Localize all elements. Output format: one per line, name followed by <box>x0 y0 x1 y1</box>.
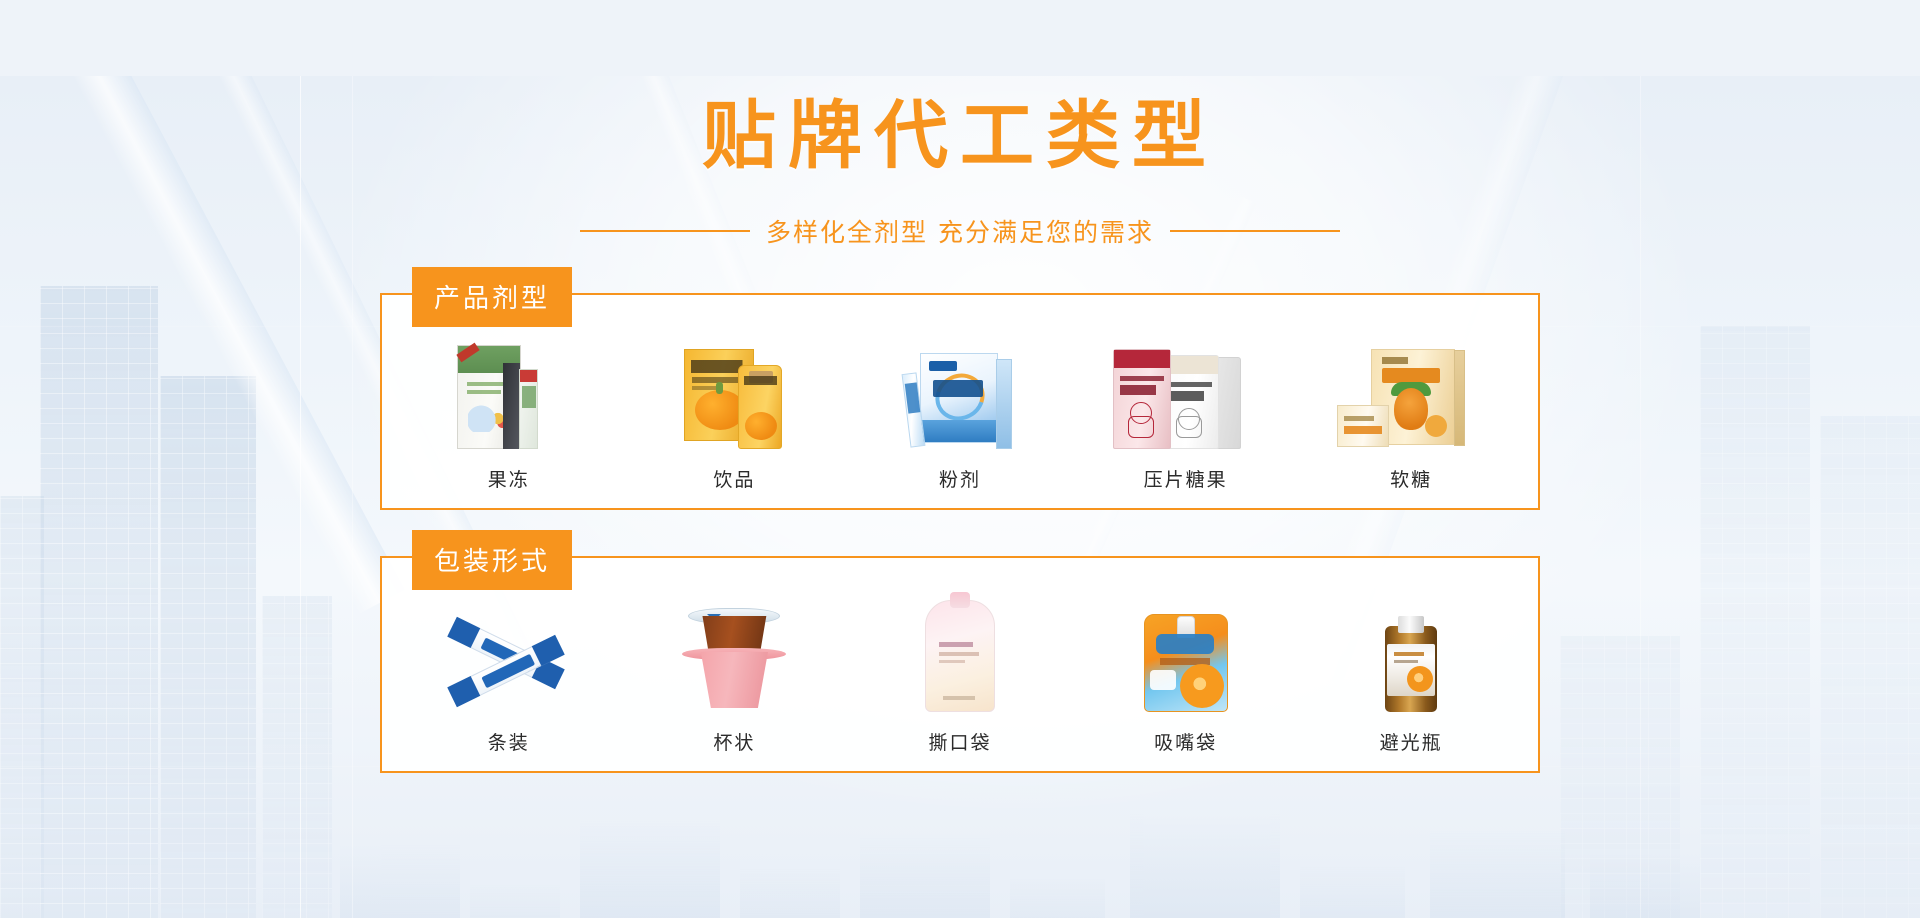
probiotics-stick-packs-icon <box>434 612 584 712</box>
section-badge-product-dosage-forms: 产品剂型 <box>412 267 572 327</box>
product-image-gummy <box>1313 331 1509 449</box>
packaging-card-spout-pouch[interactable]: 吸嘴袋 <box>1088 594 1284 755</box>
packaging-label-tear-pouch: 撕口袋 <box>862 728 1058 755</box>
probiotics-powder-box-icon <box>920 353 1014 449</box>
packaging-image-spout-pouch <box>1088 594 1284 712</box>
product-label-gummy: 软糖 <box>1313 465 1509 492</box>
page-title: 贴牌代工类型 <box>0 76 1920 183</box>
soso-gummy-box-icon <box>1371 349 1475 449</box>
product-label-powder: 粉剂 <box>862 465 1058 492</box>
section-product-dosage-forms: 产品剂型 果冻 饮品 <box>380 293 1540 510</box>
packaging-label-spout-pouch: 吸嘴袋 <box>1088 728 1284 755</box>
packaging-card-light-proof-bottle[interactable]: 避光瓶 <box>1313 594 1509 755</box>
pumpkin-enzyme-drink-box-icon <box>684 349 784 449</box>
packaging-label-stick-pack: 条装 <box>411 728 607 755</box>
product-image-jelly <box>411 331 607 449</box>
product-card-jelly[interactable]: 果冻 <box>411 331 607 492</box>
section-badge-packaging-formats: 包装形式 <box>412 530 572 590</box>
divider-line-right <box>1170 230 1340 232</box>
page-subtitle: 多样化全剂型 充分满足您的需求 <box>766 213 1154 249</box>
subtitle-row: 多样化全剂型 充分满足您的需求 <box>0 213 1920 249</box>
product-image-beverage <box>636 331 832 449</box>
packaging-card-cup[interactable]: 杯状 <box>636 594 832 755</box>
product-card-tablet-candy[interactable]: 压片糖果 <box>1088 331 1284 492</box>
product-image-powder <box>862 331 1058 449</box>
product-card-gummy[interactable]: 软糖 <box>1313 331 1509 492</box>
packaging-card-stick-pack[interactable]: 条装 <box>411 594 607 755</box>
packaging-label-cup: 杯状 <box>636 728 832 755</box>
packaging-image-stick-pack <box>411 594 607 712</box>
product-card-beverage[interactable]: 饮品 <box>636 331 832 492</box>
product-label-beverage: 饮品 <box>636 465 832 492</box>
packaging-image-tear-pouch <box>862 594 1058 712</box>
product-card-powder[interactable]: 粉剂 <box>862 331 1058 492</box>
amber-light-proof-bottle-icon <box>1385 600 1437 712</box>
product-label-jelly: 果冻 <box>411 465 607 492</box>
section-packaging-formats: 包装形式 条装 <box>380 556 1540 773</box>
packaging-label-light-proof-bottle: 避光瓶 <box>1313 728 1509 755</box>
packaging-image-light-proof-bottle <box>1313 594 1509 712</box>
packaging-image-cup <box>636 594 832 712</box>
product-label-tablet-candy: 压片糖果 <box>1088 465 1284 492</box>
jelly-box-with-stick-icon <box>457 345 561 449</box>
page-root: 贴牌代工类型 多样化全剂型 充分满足您的需求 产品剂型 果冻 <box>0 76 1920 918</box>
stacked-jelly-cups-icon <box>669 600 799 712</box>
divider-line-left <box>580 230 750 232</box>
packaging-card-tear-pouch[interactable]: 撕口袋 <box>862 594 1058 755</box>
spout-pouch-orange-icon <box>1144 600 1228 712</box>
tear-open-pouch-icon <box>925 600 995 712</box>
carbmaster-milk-bites-bags-icon <box>1111 343 1261 449</box>
product-image-tablet-candy <box>1088 331 1284 449</box>
